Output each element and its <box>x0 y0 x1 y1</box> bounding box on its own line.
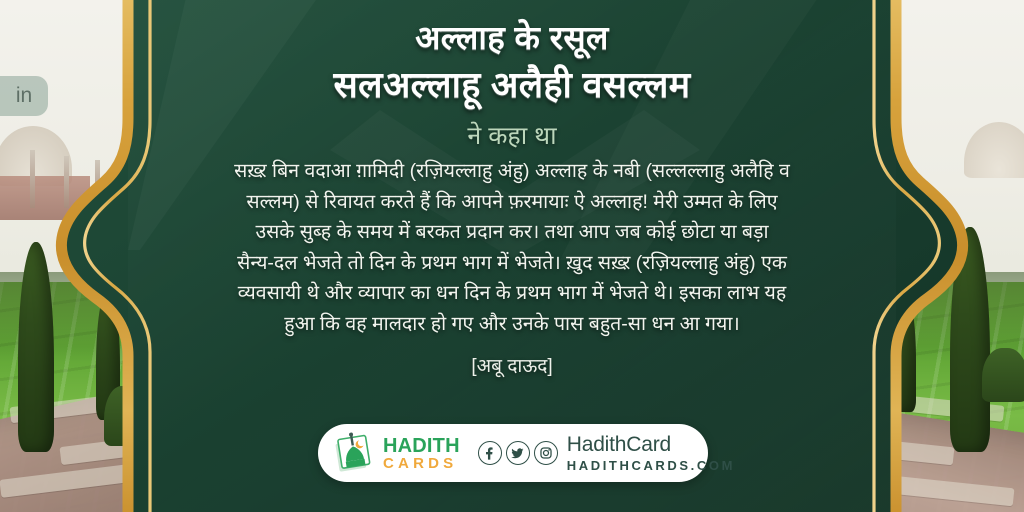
linkedin-badge[interactable]: in <box>0 76 48 116</box>
social-links <box>478 441 558 465</box>
title-line-2: सलअल्लाहू अलैही वसल्लम <box>150 61 874 108</box>
said-label: ने कहा था <box>150 118 874 152</box>
facebook-glyph <box>483 447 496 460</box>
mosque-card-svg <box>334 432 378 474</box>
wordmark-hadith: HADITH <box>383 436 460 456</box>
instagram-glyph <box>540 447 552 459</box>
brand-site-block: HadithCard HADITHCARDS.COM <box>567 434 735 472</box>
twitter-glyph <box>511 447 524 460</box>
hadith-reference: [अबू दाऊद] <box>150 352 874 378</box>
brand-name: HadithCard <box>567 434 735 455</box>
brand-logo[interactable]: HADITH CARDS <box>334 432 460 474</box>
hadith-line: सल्लम) से रिवायत करते हैं कि आपने फ़रमाय… <box>162 187 862 218</box>
title-line-1: अल्लाह के रसूल <box>150 14 874 61</box>
hadith-line: सैन्य-दल भेजते तो दिन के प्रथम भाग में भ… <box>162 248 862 279</box>
brand-wordmark: HADITH CARDS <box>383 436 460 471</box>
hadith-card-canvas: अल्लाह के रसूल सलअल्लाहू अलैही वसल्लम ने… <box>0 0 1024 512</box>
website-url[interactable]: HADITHCARDS.COM <box>567 459 735 472</box>
page-title: अल्लाह के रसूल सलअल्लाहू अलैही वसल्लम <box>150 14 874 108</box>
hadith-body: सख़्ऱ बिन वदाआ ग़ामिदी (रज़ियल्लाहु अंहु… <box>162 156 862 339</box>
hadith-line: व्यवसायी थे और व्यापार का धन दिन के प्रथ… <box>162 278 862 309</box>
instagram-icon[interactable] <box>534 441 558 465</box>
hadith-line: उसके सुब्ह के समय में बरकत प्रदान कर। तथ… <box>162 217 862 248</box>
mosque-card-icon <box>334 432 378 474</box>
twitter-icon[interactable] <box>506 441 530 465</box>
wordmark-cards: CARDS <box>383 456 460 471</box>
hadith-line: सख़्ऱ बिन वदाआ ग़ामिदी (रज़ियल्लाहु अंहु… <box>162 156 862 187</box>
hadith-line: हुआ कि वह मालदार हो गए और उनके पास बहुत-… <box>162 309 862 340</box>
footer-brand-bar: HADITH CARDS <box>318 424 708 482</box>
facebook-icon[interactable] <box>478 441 502 465</box>
